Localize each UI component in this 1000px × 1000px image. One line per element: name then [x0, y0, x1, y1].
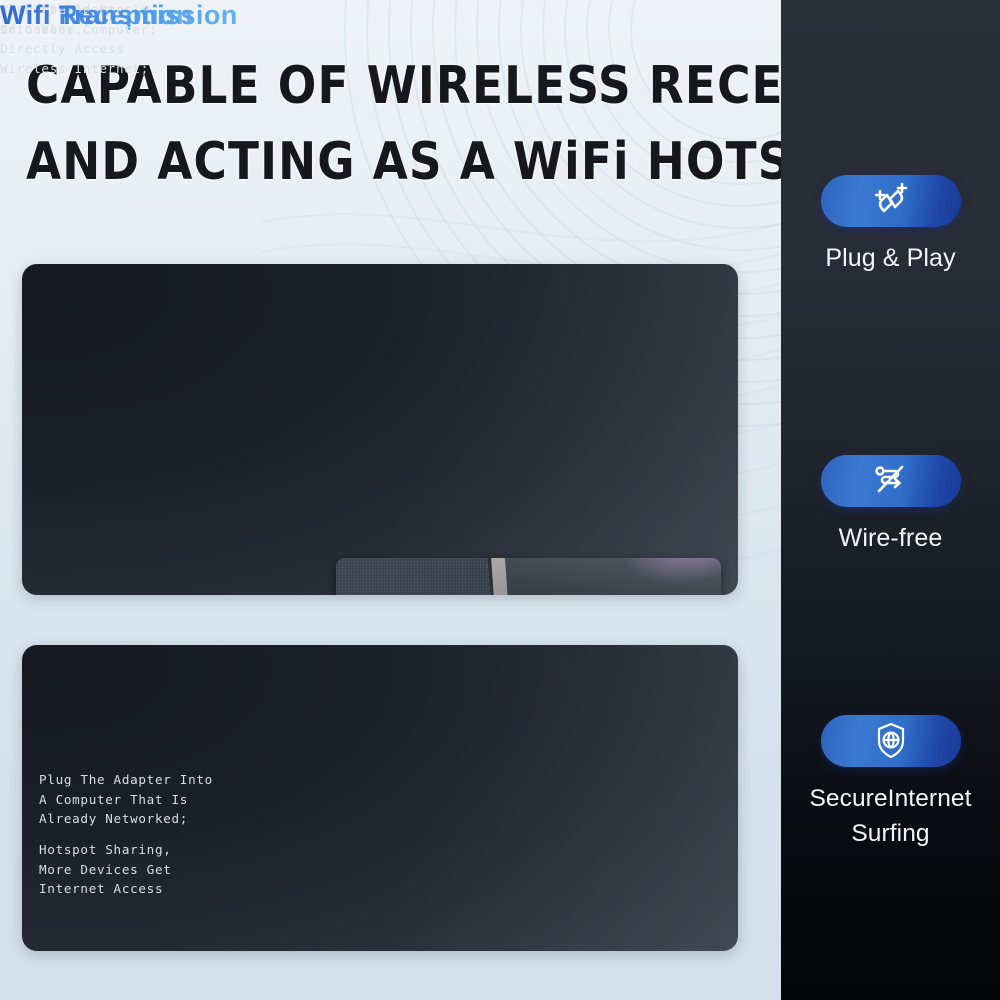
card-background — [22, 264, 738, 595]
card-title-wifi-transmission: Wifi Transmission — [0, 0, 238, 31]
wire-free-arrows-icon — [868, 461, 914, 501]
card-body-transmission-part1: Plug The Adapter Into A Computer That Is… — [39, 770, 213, 829]
headline-line-2: AND ACTING AS A WiFi HOTSPOT — [26, 124, 734, 200]
laptop-screen — [486, 558, 721, 595]
card-body-transmission-part2: Hotspot Sharing, More Devices Get Intern… — [39, 840, 172, 899]
feature-sidebar: Plug & Play Wire-free — [781, 0, 1000, 1000]
feature-wire-free[interactable]: Wire-free — [781, 455, 1000, 556]
feature-label: SecureInternet Surfing — [781, 781, 1000, 851]
feature-label: Plug & Play — [781, 241, 1000, 276]
feature-label: Wire-free — [781, 521, 1000, 556]
wire-free-pill[interactable] — [821, 455, 961, 507]
feature-plug-and-play[interactable]: Plug & Play — [781, 175, 1000, 276]
feature-secure-internet-surfing[interactable]: SecureInternet Surfing — [781, 715, 1000, 851]
feature-card-wifi-reception — [22, 264, 738, 595]
left-content-panel: CAPABLE OF WIRELESS RECEPTION AND ACTING… — [0, 0, 781, 1000]
laptop-on-desk-mat-photo — [336, 558, 721, 595]
secure-internet-pill[interactable] — [821, 715, 961, 767]
plug-and-play-pill[interactable] — [821, 175, 961, 227]
shield-globe-icon — [871, 720, 911, 762]
plug-connector-icon — [868, 181, 914, 221]
infographic-page: CAPABLE OF WIRELESS RECEPTION AND ACTING… — [0, 0, 1000, 1000]
